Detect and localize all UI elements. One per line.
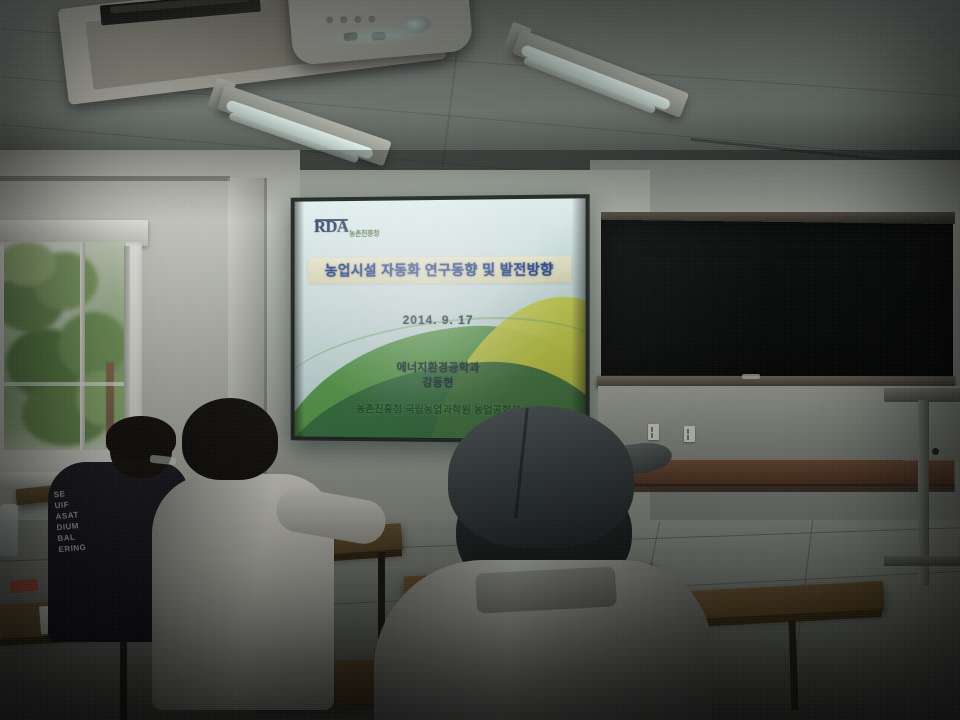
shirt-print: SEUIFASATDIUMBALERING xyxy=(53,483,132,555)
wall-outlet[interactable] xyxy=(684,426,695,442)
water-bottle xyxy=(0,504,18,556)
blackboard xyxy=(601,220,953,383)
classroom-photo: RDA 농촌진흥청 농업시설 자동화 연구동향 및 발전방향 2014. 9. … xyxy=(0,0,960,720)
slide-title-band: 농업시설 자동화 연구동향 및 발전방향 xyxy=(308,256,571,283)
wall-outlet[interactable] xyxy=(648,424,659,440)
rda-logo-korean: 농촌진흥청 xyxy=(349,229,379,239)
baseball-cap xyxy=(448,406,634,548)
lectern xyxy=(884,388,960,588)
slide-title: 농업시설 자동화 연구동향 및 발전방향 xyxy=(325,259,554,280)
slide-presenter: 강동현 xyxy=(295,373,586,391)
desk-leg xyxy=(120,638,127,720)
rda-logo: RDA 농촌진흥청 xyxy=(314,217,386,243)
slide-date: 2014. 9. 17 xyxy=(295,313,586,327)
chalk xyxy=(742,374,760,379)
presentation-slide: RDA 농촌진흥청 농업시설 자동화 연구동향 및 발전방향 2014. 9. … xyxy=(295,198,586,439)
window-mullion xyxy=(4,382,126,386)
window-mullion xyxy=(80,242,85,450)
